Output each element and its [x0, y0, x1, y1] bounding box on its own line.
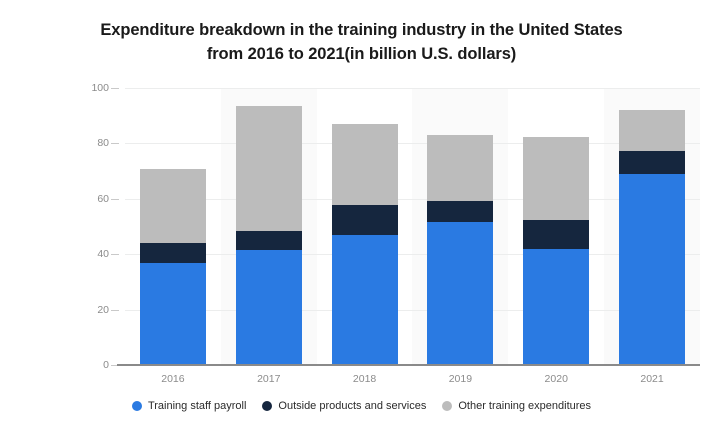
stacked-bar[interactable]: [619, 110, 685, 365]
y-axis-tick-mark: [111, 88, 119, 89]
bar-segment[interactable]: [236, 231, 302, 250]
bar-segment[interactable]: [427, 201, 493, 222]
bar-slot: [508, 88, 604, 365]
bar-segment[interactable]: [619, 174, 685, 365]
circle-icon: [442, 401, 452, 411]
bar-segment[interactable]: [523, 249, 589, 365]
bar-segment[interactable]: [236, 250, 302, 365]
bar-slot: [412, 88, 508, 365]
bars-layer: [125, 88, 700, 365]
x-axis-line: [117, 364, 700, 366]
stacked-bar[interactable]: [523, 137, 589, 365]
bar-segment[interactable]: [332, 124, 398, 205]
bar-segment[interactable]: [332, 235, 398, 365]
legend-item-label: Outside products and services: [278, 400, 426, 412]
bar-slot: [125, 88, 221, 365]
y-axis-tick-mark: [111, 199, 119, 200]
stacked-bar[interactable]: [140, 169, 206, 365]
circle-icon: [262, 401, 272, 411]
y-axis-tick-label: 80: [97, 137, 109, 149]
y-axis-tick-label: 40: [97, 248, 109, 260]
x-axis-tick-label: 2018: [317, 368, 413, 390]
bar-segment[interactable]: [523, 220, 589, 249]
legend-item-label: Training staff payroll: [148, 400, 246, 412]
legend-item-label: Other training expenditures: [458, 400, 591, 412]
x-axis-tick-label: 2019: [412, 368, 508, 390]
chart-title: Expenditure breakdown in the training in…: [0, 18, 723, 66]
legend-item[interactable]: Outside products and services: [262, 400, 426, 412]
stacked-bar[interactable]: [236, 106, 302, 365]
bar-segment[interactable]: [140, 243, 206, 263]
legend-item[interactable]: Training staff payroll: [132, 400, 246, 412]
x-axis-tick-label: 2017: [221, 368, 317, 390]
chart-title-line-1: Expenditure breakdown in the training in…: [0, 18, 723, 42]
y-axis-tick-label: 60: [97, 193, 109, 205]
chart-title-line-2: from 2016 to 2021(in billion U.S. dollar…: [0, 42, 723, 66]
bar-segment[interactable]: [427, 135, 493, 201]
legend-item[interactable]: Other training expenditures: [442, 400, 591, 412]
stacked-bar[interactable]: [427, 135, 493, 365]
y-axis-tick-label: 100: [91, 82, 109, 94]
bar-segment[interactable]: [619, 110, 685, 152]
bar-slot: [221, 88, 317, 365]
bar-segment[interactable]: [140, 169, 206, 242]
y-axis-tick-mark: [111, 143, 119, 144]
circle-icon: [132, 401, 142, 411]
x-axis-tick-label: 2021: [604, 368, 700, 390]
chart-container: Expenditure breakdown in the training in…: [0, 0, 723, 448]
x-axis-tick-label: 2020: [508, 368, 604, 390]
bar-slot: [317, 88, 413, 365]
chart-legend: Training staff payrollOutside products a…: [0, 400, 723, 412]
y-axis-ticks: 020406080100: [0, 88, 125, 365]
bar-segment[interactable]: [332, 205, 398, 234]
bar-segment[interactable]: [523, 137, 589, 220]
stacked-bar[interactable]: [332, 124, 398, 365]
x-axis-labels: 201620172018201920202021: [125, 368, 700, 390]
bar-segment[interactable]: [619, 151, 685, 174]
y-axis-tick-label: 20: [97, 304, 109, 316]
plot-area: [125, 88, 700, 365]
bar-segment[interactable]: [236, 106, 302, 231]
y-axis-tick-mark: [111, 254, 119, 255]
x-axis-tick-label: 2016: [125, 368, 221, 390]
bar-slot: [604, 88, 700, 365]
y-axis-tick-label: 0: [103, 359, 109, 371]
y-axis-tick-mark: [111, 310, 119, 311]
bar-segment[interactable]: [427, 222, 493, 365]
bar-segment[interactable]: [140, 263, 206, 365]
